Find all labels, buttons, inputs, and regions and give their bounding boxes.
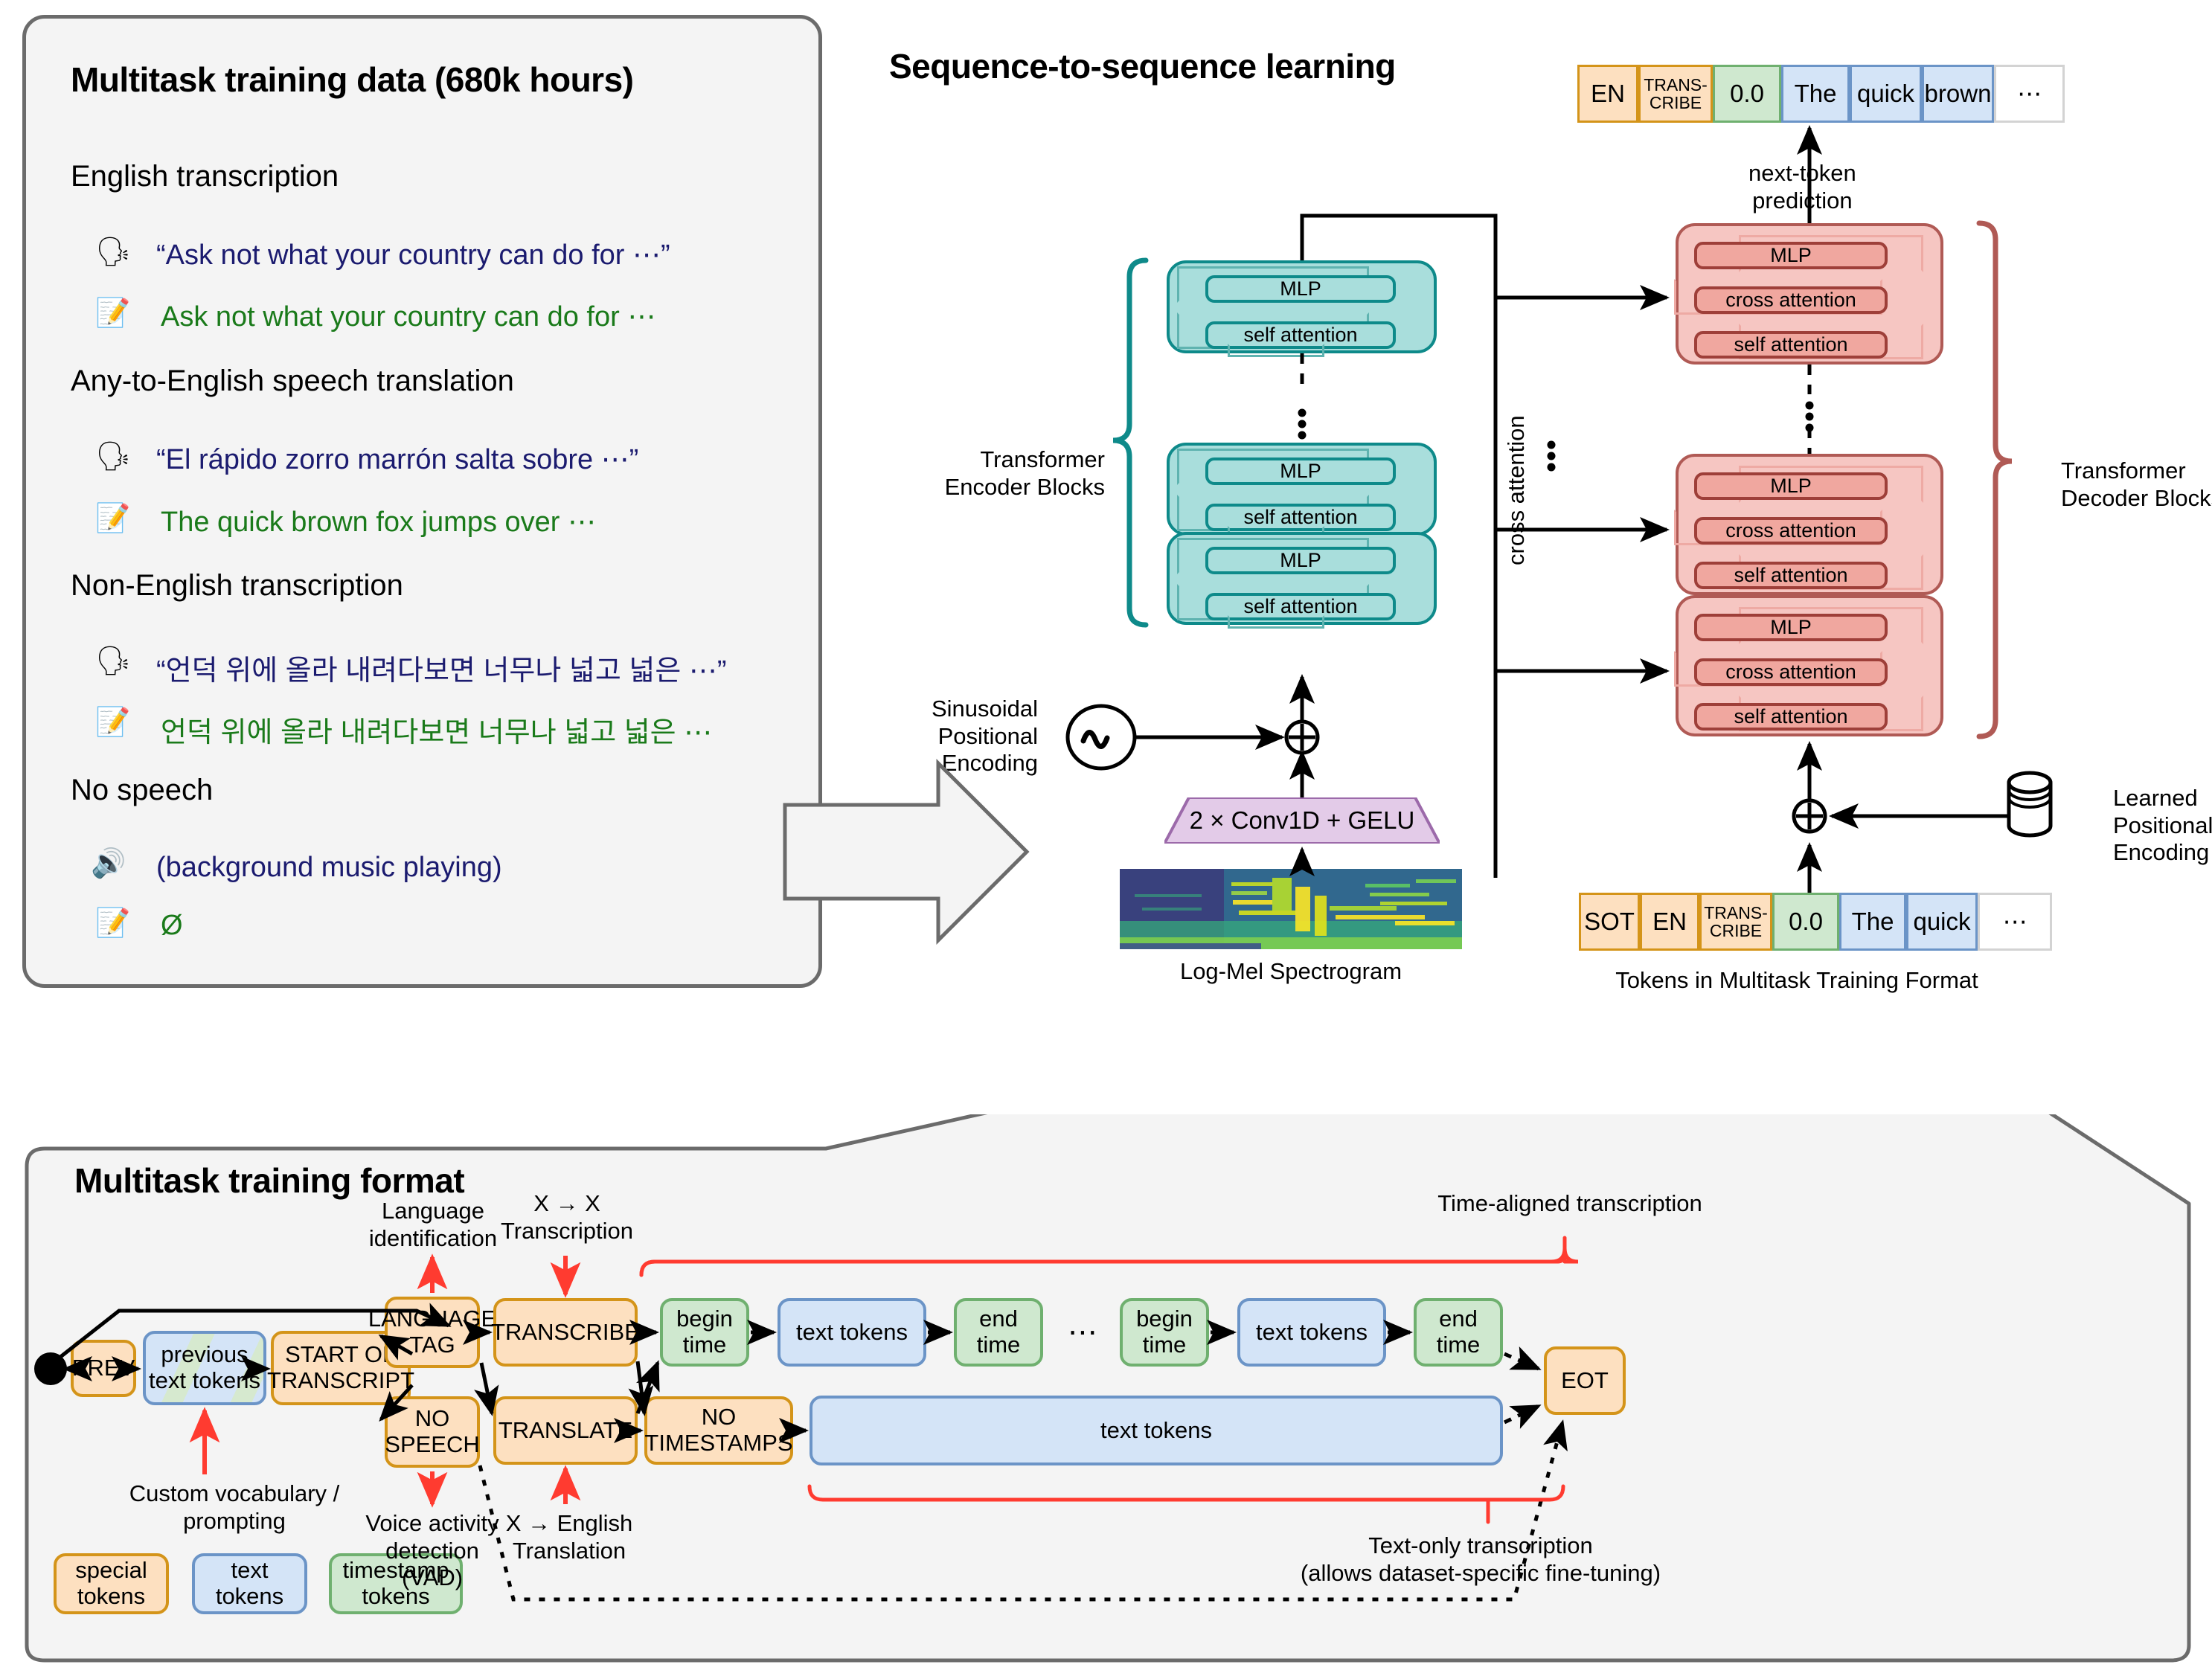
- conv1d-gelu-block: 2 × Conv1D + GELU: [1164, 797, 1440, 844]
- token-en: EN: [1640, 893, 1699, 951]
- node-text-tokens-1: text tokens: [778, 1298, 926, 1367]
- audio-example-text: “언덕 위에 올라 내려다보면 너무나 넓고 넓은 ⋯”: [156, 647, 727, 688]
- section-heading-speech-translation: Any-to-English speech translation: [71, 365, 514, 398]
- legend-special-tokens: special tokens: [54, 1553, 169, 1614]
- encoder-bracket-label: Transformer Encoder Blocks: [911, 446, 1105, 501]
- encoder-mlp-1: MLP: [1205, 275, 1396, 303]
- memo-pencil-icon: 📝: [95, 708, 130, 736]
- annotation-text-only-transcription: Text-only transcription (allows dataset-…: [1086, 1532, 1875, 1587]
- log-mel-spectrogram-image: [1120, 869, 1462, 949]
- sinusoidal-positional-encoding-label: Sinusoidal Positional Encoding: [882, 696, 1038, 777]
- conv1d-gelu-label: 2 × Conv1D + GELU: [1164, 797, 1440, 844]
- decoder-self-attention-3: self attention: [1694, 703, 1888, 731]
- token-brown: brown: [1922, 65, 1994, 123]
- token-ellipsis: ⋯: [1978, 893, 2052, 951]
- node-no-speech: NO SPEECH: [385, 1396, 480, 1468]
- node-previous-text-tokens: previous text tokens: [143, 1331, 266, 1405]
- decoder-cross-attention-1: cross attention: [1694, 286, 1888, 314]
- section-heading-english-transcription: English transcription: [71, 160, 339, 193]
- token-sot: SOT: [1579, 893, 1640, 951]
- node-no-timestamps: NO TIMESTAMPS: [644, 1396, 793, 1465]
- flow-ellipsis: ⋯: [1051, 1315, 1115, 1350]
- cross-attention-label: cross attention: [1503, 415, 1530, 565]
- encoder-mlp-3: MLP: [1205, 547, 1396, 574]
- database-cylinder-icon: [2009, 773, 2051, 835]
- loud-speaker-icon: 🔊: [91, 850, 126, 878]
- token-quick: quick: [1906, 893, 1978, 951]
- token-timestamp-0: 0.0: [1772, 893, 1839, 951]
- legend-text-tokens: text tokens: [192, 1553, 307, 1614]
- input-token-caption: Tokens in Multitask Training Format: [1540, 967, 2054, 995]
- encoder-mlp-2: MLP: [1205, 457, 1396, 485]
- token-en: EN: [1577, 65, 1638, 123]
- residual-connection: [1228, 615, 1324, 629]
- speaking-head-icon: 🗣: [95, 647, 131, 675]
- audio-example-text: “El rápido zorro marrón salta sobre ⋯”: [156, 443, 638, 476]
- annotation-x-to-english-translation: X → English Translation: [484, 1510, 655, 1564]
- decoder-cross-attention-2: cross attention: [1694, 517, 1888, 545]
- left-panel-title: Multitask training data (680k hours): [71, 60, 633, 100]
- memo-pencil-icon: 📝: [95, 909, 130, 937]
- token-transcribe: TRANS- CRIBE: [1638, 65, 1713, 123]
- section-heading-non-english-transcription: Non-English transcription: [71, 569, 403, 603]
- audio-example-text: (background music playing): [156, 852, 502, 884]
- decoder-cross-attention-3: cross attention: [1694, 658, 1888, 686]
- annotation-time-aligned-transcription: Time-aligned transcription: [1332, 1190, 1808, 1218]
- decoder-self-attention-1: self attention: [1694, 331, 1888, 359]
- audio-example-text: “Ask not what your country can do for ⋯”: [156, 238, 670, 272]
- node-prev: PREV: [71, 1340, 136, 1397]
- decoder-mlp-3: MLP: [1694, 614, 1888, 641]
- transcript-example-text: Ø: [161, 910, 183, 942]
- decoder-mlp-1: MLP: [1694, 242, 1888, 269]
- decoder-bracket-label: Transformer Decoder Blocks: [2061, 457, 2212, 512]
- node-end-time-2: end time: [1414, 1298, 1503, 1367]
- seq2seq-title: Sequence-to-sequence learning: [889, 46, 1396, 86]
- spectrogram-caption: Log-Mel Spectrogram: [1120, 958, 1462, 986]
- token-transcribe: TRANS- CRIBE: [1699, 893, 1772, 951]
- node-text-tokens-2: text tokens: [1237, 1298, 1386, 1367]
- whisper-architecture-figure: Multitask training data (680k hours) Eng…: [0, 0, 2212, 1676]
- circled-plus-icon-decoder: [1794, 800, 1825, 832]
- annotation-x-to-x-transcription: X → X Transcription: [482, 1190, 652, 1245]
- output-token-strip: EN TRANS- CRIBE 0.0 The quick brown ⋯: [1577, 65, 2065, 123]
- next-token-prediction-label: next-token prediction: [1748, 160, 1856, 214]
- memo-pencil-icon: 📝: [95, 504, 130, 533]
- encoder-bracket: [1113, 260, 1146, 625]
- token-the: The: [1781, 65, 1850, 123]
- circled-plus-icon-encoder: [1286, 722, 1318, 753]
- node-begin-time-2: begin time: [1120, 1298, 1209, 1367]
- transcript-example-text: The quick brown fox jumps over ⋯: [161, 505, 596, 539]
- node-text-tokens-long: text tokens: [810, 1396, 1503, 1465]
- node-translate: TRANSLATE: [493, 1396, 638, 1465]
- token-quick: quick: [1850, 65, 1922, 123]
- input-token-strip: SOT EN TRANS- CRIBE 0.0 The quick ⋯: [1579, 893, 2052, 951]
- bottom-panel-title: Multitask training format: [74, 1160, 464, 1201]
- token-ellipsis: ⋯: [1994, 65, 2065, 123]
- sine-wave-icon: [1068, 706, 1135, 768]
- speaking-head-icon: 🗣: [95, 443, 131, 471]
- decoder-self-attention-2: self attention: [1694, 562, 1888, 589]
- token-timestamp-0: 0.0: [1713, 65, 1781, 123]
- learned-positional-encoding-label: Learned Positional Encoding: [2113, 785, 2212, 867]
- transcript-example-text: Ask not what your country can do for ⋯: [161, 300, 655, 333]
- node-end-time-1: end time: [954, 1298, 1043, 1367]
- node-language-tag: LANGUAGE TAG: [385, 1297, 480, 1368]
- node-begin-time-1: begin time: [660, 1298, 749, 1367]
- annotation-custom-vocabulary: Custom vocabulary / prompting: [112, 1480, 357, 1535]
- decoder-bracket: [1979, 223, 2012, 736]
- node-eot: EOT: [1544, 1346, 1626, 1415]
- residual-connection: [1228, 344, 1324, 357]
- transcript-example-text: 언덕 위에 올라 내려다보면 너무나 넓고 넓은 ⋯: [161, 709, 712, 750]
- node-transcribe: TRANSCRIBE: [493, 1298, 638, 1367]
- section-heading-no-speech: No speech: [71, 774, 213, 807]
- decoder-mlp-2: MLP: [1694, 472, 1888, 500]
- memo-pencil-icon: 📝: [95, 299, 130, 327]
- speaking-head-icon: 🗣: [95, 238, 131, 266]
- token-the: The: [1839, 893, 1906, 951]
